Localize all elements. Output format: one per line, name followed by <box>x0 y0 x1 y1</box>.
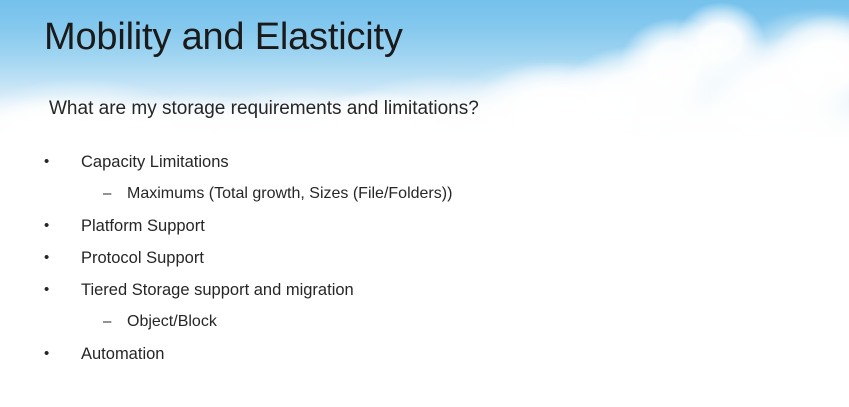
list-item-label: Protocol Support <box>81 242 204 274</box>
list-item-label: Platform Support <box>81 210 205 242</box>
dash-marker-icon: – <box>103 178 111 210</box>
bullet-marker-icon: • <box>44 210 49 242</box>
list-item: • Tiered Storage support and migration <box>0 274 849 306</box>
bullet-marker-icon: • <box>44 242 49 274</box>
list-item: – Maximums (Total growth, Sizes (File/Fo… <box>0 178 849 210</box>
list-item-label: Object/Block <box>127 306 217 338</box>
bullet-marker-icon: • <box>44 274 49 306</box>
bullet-list: • Capacity Limitations – Maximums (Total… <box>0 146 849 370</box>
list-item-label: Tiered Storage support and migration <box>81 274 354 306</box>
slide-title: Mobility and Elasticity <box>44 16 403 59</box>
list-item-label: Capacity Limitations <box>81 146 229 178</box>
list-item: – Object/Block <box>0 306 849 338</box>
dash-marker-icon: – <box>103 306 111 338</box>
list-item: • Protocol Support <box>0 242 849 274</box>
list-item: • Automation <box>0 338 849 370</box>
list-item-label: Maximums (Total growth, Sizes (File/Fold… <box>127 178 452 210</box>
list-item-label: Automation <box>81 338 164 370</box>
list-item: • Capacity Limitations <box>0 146 849 178</box>
bullet-marker-icon: • <box>44 146 49 178</box>
presentation-slide: Mobility and Elasticity What are my stor… <box>0 0 849 407</box>
list-item: • Platform Support <box>0 210 849 242</box>
bullet-marker-icon: • <box>44 338 49 370</box>
slide-subtitle: What are my storage requirements and lim… <box>49 98 479 120</box>
